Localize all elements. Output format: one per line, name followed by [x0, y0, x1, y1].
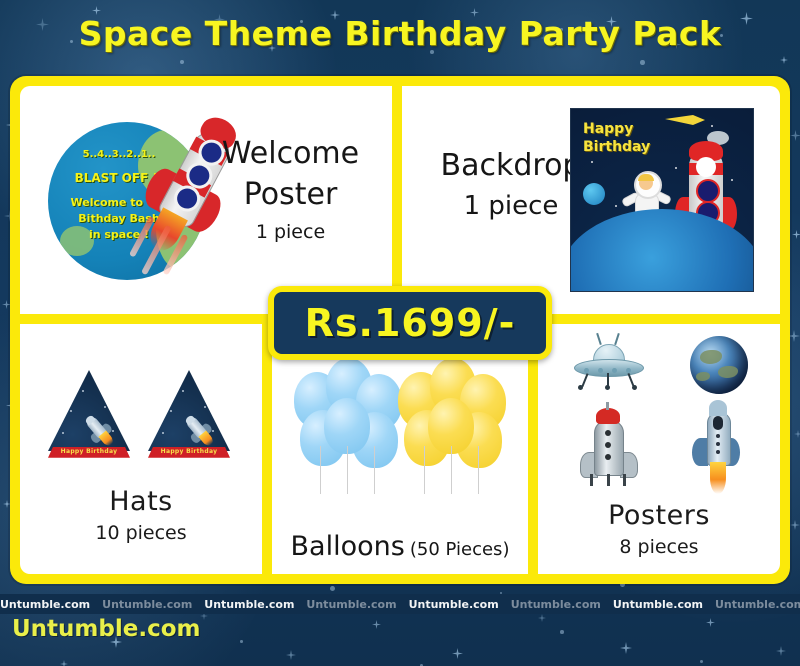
star-sparkle	[776, 646, 786, 656]
hat-band-text: Happy Birthday	[148, 448, 230, 455]
page-title: Space Theme Birthday Party Pack	[0, 14, 800, 53]
party-hat-icon: Happy Birthday	[148, 370, 230, 462]
blue-balloons-icon	[294, 354, 404, 489]
ufo-icon	[572, 342, 644, 388]
party-hat-icon: Happy Birthday	[48, 370, 130, 462]
star-sparkle	[286, 650, 296, 660]
star-sparkle	[792, 230, 800, 239]
watermark-text: Untumble.com	[613, 598, 703, 611]
star-sparkle	[372, 620, 381, 629]
panel-posters[interactable]: Posters 8 pieces	[538, 324, 780, 574]
watermark-text: Untumble.com	[306, 598, 396, 611]
watermark-strip: Untumble.comUntumble.comUntumble.comUntu…	[0, 594, 800, 614]
panel-welcome-poster[interactable]: 5..4..3..2..1.. BLAST OFF !! Welcome to …	[20, 86, 392, 314]
price-value: Rs.1699/-	[305, 301, 516, 345]
watermark-text: Untumble.com	[102, 598, 192, 611]
watermark-text: Untumble.com	[204, 598, 294, 611]
star-dot	[700, 660, 703, 663]
hat-band-text: Happy Birthday	[48, 448, 130, 455]
star-dot	[240, 640, 243, 643]
star-sparkle	[60, 660, 68, 666]
balloons-name: Balloons	[291, 531, 405, 562]
balloons-quantity: (50 Pieces)	[410, 539, 510, 560]
price-badge: Rs.1699/-	[268, 286, 552, 360]
welcome-poster-name-line2: Poster	[203, 175, 378, 216]
star-sparkle	[706, 618, 715, 627]
star-sparkle	[538, 614, 546, 622]
hats-quantity: 10 pieces	[20, 522, 262, 544]
star-sparkle	[790, 130, 800, 141]
panel-hats[interactable]: Happy Birthday Happy Birthday	[20, 324, 262, 574]
watermark-text: Untumble.com	[409, 598, 499, 611]
star-dot	[330, 586, 335, 591]
posters-name: Posters	[538, 500, 780, 531]
brand-logo: Untumble.com	[12, 616, 200, 642]
balloons-label: Balloons (50 Pieces)	[272, 531, 528, 562]
comet-icon	[665, 115, 705, 125]
star-dot	[640, 60, 645, 65]
blue-planet-icon	[583, 183, 605, 205]
poster-canvas: Space Theme Birthday Party Pack 5..4..3.…	[0, 0, 800, 666]
earth-planet-icon	[690, 336, 748, 394]
star-sparkle	[620, 642, 632, 654]
watermark-text: Untumble.com	[715, 598, 800, 611]
star-sparkle	[790, 520, 800, 530]
star-sparkle	[452, 648, 463, 659]
welcome-poster-quantity: 1 piece	[203, 221, 378, 243]
watermark-text: Untumble.com	[511, 598, 601, 611]
hat-band: Happy Birthday	[48, 447, 130, 462]
yellow-balloons-icon	[398, 354, 508, 489]
backdrop-greeting-text: Happy Birthday	[583, 121, 650, 156]
posters-quantity: 8 pieces	[538, 536, 780, 558]
space-shuttle-icon	[578, 406, 638, 492]
panel-backdrop[interactable]: Backdrop 1 piece Happy Birthday	[402, 86, 780, 314]
star-sparkle	[794, 430, 800, 438]
star-sparkle	[780, 56, 788, 64]
rocket-icon	[688, 406, 744, 498]
star-dot	[560, 630, 564, 634]
panel-balloons[interactable]: Balloons (50 Pieces)	[272, 324, 528, 574]
welcome-poster-name-line1: Welcome	[203, 134, 378, 175]
welcome-poster-label: Welcome Poster 1 piece	[203, 134, 378, 243]
hats-name: Hats	[20, 486, 262, 517]
backdrop-art: Happy Birthday	[570, 108, 754, 292]
star-dot	[180, 60, 184, 64]
watermark-text: Untumble.com	[0, 598, 90, 611]
hat-band: Happy Birthday	[148, 447, 230, 462]
